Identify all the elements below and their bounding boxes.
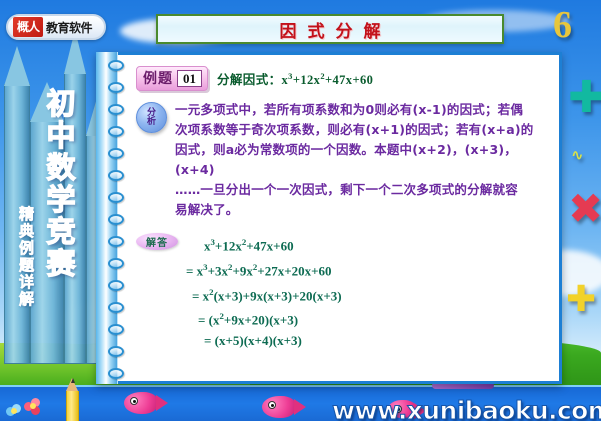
- example-badge-label: 例题: [143, 68, 173, 88]
- yellow-squiggle-icon: ∿: [571, 148, 584, 163]
- sidebar-vertical-title: 初中数学竞赛: [38, 88, 80, 280]
- logo-label: 教育软件: [46, 19, 92, 36]
- fish-icon: [262, 396, 296, 418]
- analysis-text: 一元多项式中，若所有项系数和为0则必有(x-1)的因式；若偶 次项系数等于奇次项…: [175, 100, 540, 220]
- analysis-line: 因式，则a必为常数项的一个因数。本题中(x+2)，(x+3)，(x+4): [175, 140, 540, 180]
- teal-plus-icon: ✚: [568, 76, 601, 120]
- solution-lines: x3+12x2+47x+60 = x3+3x2+9x2+27x+20x+60 =…: [186, 232, 342, 352]
- pencil-icon: [66, 378, 79, 421]
- red-cross-icon: ✖: [568, 188, 601, 230]
- analysis-block: 分 析 一元多项式中，若所有项系数和为0则必有(x-1)的因式；若偶 次项系数等…: [136, 100, 540, 220]
- page-title: 因式分解: [269, 17, 392, 42]
- analysis-badge-line2: 析: [147, 118, 156, 127]
- lesson-content: 例题 01 分解因式：x3+12x2+47x+60 分 析 一元多项式中，若所有…: [136, 66, 540, 352]
- example-title: 分解因式：x3+12x2+47x+60: [217, 69, 373, 88]
- solution-line: x3+12x2+47x+60: [186, 232, 342, 257]
- analysis-line: 易解决了。: [175, 200, 540, 220]
- yellow-six-icon: 6: [553, 6, 572, 44]
- analysis-badge: 分 析: [136, 102, 167, 133]
- sidebar-vertical-subtitle: 精典例题详解: [16, 206, 37, 308]
- analysis-line: 一元多项式中，若所有项系数和为0则必有(x-1)的因式；若偶: [175, 100, 540, 120]
- logo-badge[interactable]: 概人 教育软件: [6, 14, 106, 40]
- page-title-bar: 因式分解: [156, 14, 504, 44]
- solution-line: = (x+5)(x+4)(x+3): [186, 331, 342, 352]
- example-header: 例题 01 分解因式：x3+12x2+47x+60: [136, 66, 540, 91]
- flower-icon: [24, 398, 40, 414]
- example-title-prefix: 分解因式：: [217, 72, 282, 87]
- site-watermark: www.xunibaoku.com: [332, 396, 601, 421]
- solution-badge: 解答: [136, 233, 178, 250]
- fish-icon: [124, 392, 158, 414]
- example-number: 01: [177, 70, 202, 87]
- solution-line: = x2(x+3)+9x(x+3)+20(x+3): [186, 282, 342, 307]
- yellow-plus-icon: ✚: [566, 282, 596, 318]
- example-badge: 例题 01: [136, 66, 208, 91]
- example-title-expression: x3+12x2+47x+60: [282, 73, 374, 87]
- analysis-line: ……一旦分出一个一次因式，剩下一个二次多项式的分解就容: [175, 180, 540, 200]
- solution-line: = (x2+9x+20)(x+3): [186, 306, 342, 331]
- solution-block: 解答 x3+12x2+47x+60 = x3+3x2+9x2+27x+20x+6…: [136, 232, 540, 352]
- flower-icon: [6, 404, 22, 420]
- solution-line: = x3+3x2+9x2+27x+20x+60: [186, 257, 342, 282]
- logo-mark: 概人: [13, 17, 43, 37]
- analysis-line: 次项系数等于奇次项系数，则必有(x+1)的因式；若有(x+a)的: [175, 120, 540, 140]
